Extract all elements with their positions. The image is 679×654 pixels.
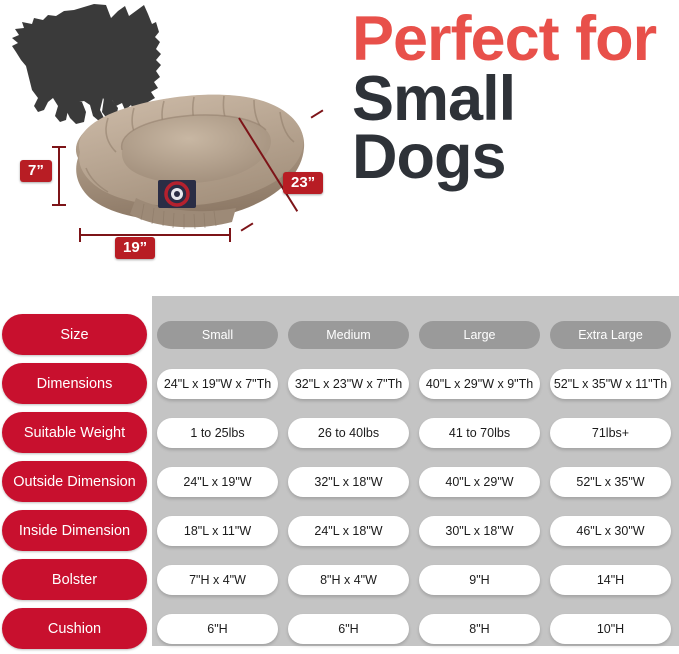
table-cell: 1 to 25lbs [157,418,278,448]
table-row: Bolster7"H x 4"W8"H x 4"W9"H14"H [0,555,679,604]
table-row: Dimensions24"L x 19"W x 7"Th32"L x 23"W … [0,359,679,408]
table-cell: 6"H [157,614,278,644]
size-chart-table: SizeSmallMediumLargeExtra LargeDimension… [0,296,679,654]
height-rule-cap-top [52,146,66,148]
table-cell: 6"H [288,614,409,644]
dimension-callout-width: 19” [115,237,155,259]
table-cell: 30"L x 18"W [419,516,540,546]
row-cells: SmallMediumLargeExtra Large [157,321,671,349]
table-cell: 40"L x 29"W x 9"Th [419,369,540,399]
column-header-small: Small [157,321,278,349]
height-rule [58,146,60,206]
column-header-large: Large [419,321,540,349]
headline-line-2: Small [352,72,679,126]
row-label-inside-dimension: Inside Dimension [2,510,147,551]
table-cell: 8"H x 4"W [288,565,409,595]
table-row: Inside Dimension18"L x 11"W24"L x 18"W30… [0,506,679,555]
row-label-suitable-weight: Suitable Weight [2,412,147,453]
table-cell: 9"H [419,565,540,595]
table-cell: 41 to 70lbs [419,418,540,448]
dimension-callout-depth: 23” [283,172,323,194]
row-cells: 7"H x 4"W8"H x 4"W9"H14"H [157,565,671,595]
dimension-callout-height: 7” [20,160,52,182]
headline-line-1: Perfect for [352,12,679,66]
table-cell: 24"L x 19"W [157,467,278,497]
column-header-extra-large: Extra Large [550,321,671,349]
table-cell: 46"L x 30"W [550,516,671,546]
row-label-bolster: Bolster [2,559,147,600]
table-cell: 10"H [550,614,671,644]
row-label-cushion: Cushion [2,608,147,649]
width-rule-cap-right [229,228,231,242]
height-rule-cap-bottom [52,204,66,206]
row-cells: 1 to 25lbs26 to 40lbs41 to 70lbs71lbs+ [157,418,671,448]
headline-line-3: Dogs [352,130,679,184]
table-cell: 52"L x 35"W x 11"Th [550,369,671,399]
table-cell: 26 to 40lbs [288,418,409,448]
table-cell: 71lbs+ [550,418,671,448]
width-rule [79,234,231,236]
row-label-dimensions: Dimensions [2,363,147,404]
row-cells: 24"L x 19"W32"L x 18"W40"L x 29"W52"L x … [157,467,671,497]
table-row: Cushion6"H6"H8"H10"H [0,604,679,653]
table-cell: 7"H x 4"W [157,565,278,595]
table-cell: 52"L x 35"W [550,467,671,497]
row-label-size: Size [2,314,147,355]
row-cells: 18"L x 11"W24"L x 18"W30"L x 18"W46"L x … [157,516,671,546]
width-rule-cap-left [79,228,81,242]
table-row: Outside Dimension24"L x 19"W32"L x 18"W4… [0,457,679,506]
brand-patch-icon [158,180,196,208]
table-row: Suitable Weight1 to 25lbs26 to 40lbs41 t… [0,408,679,457]
table-cell: 18"L x 11"W [157,516,278,546]
row-cells: 24"L x 19"W x 7"Th32"L x 23"W x 7"Th40"L… [157,369,671,399]
table-cell: 24"L x 18"W [288,516,409,546]
table-cell: 32"L x 18"W [288,467,409,497]
table-cell: 8"H [419,614,540,644]
table-cell: 24"L x 19"W x 7"Th [157,369,278,399]
headline: Perfect for Small Dogs [352,12,679,185]
hero-section: 7” 19” 23” Perfect for Small Dogs [0,0,679,296]
product-image [60,72,320,242]
table-header-row: SizeSmallMediumLargeExtra Large [0,310,679,359]
column-header-medium: Medium [288,321,409,349]
table-cell: 32"L x 23"W x 7"Th [288,369,409,399]
row-label-outside-dimension: Outside Dimension [2,461,147,502]
table-cell: 14"H [550,565,671,595]
table-cell: 40"L x 29"W [419,467,540,497]
row-cells: 6"H6"H8"H10"H [157,614,671,644]
